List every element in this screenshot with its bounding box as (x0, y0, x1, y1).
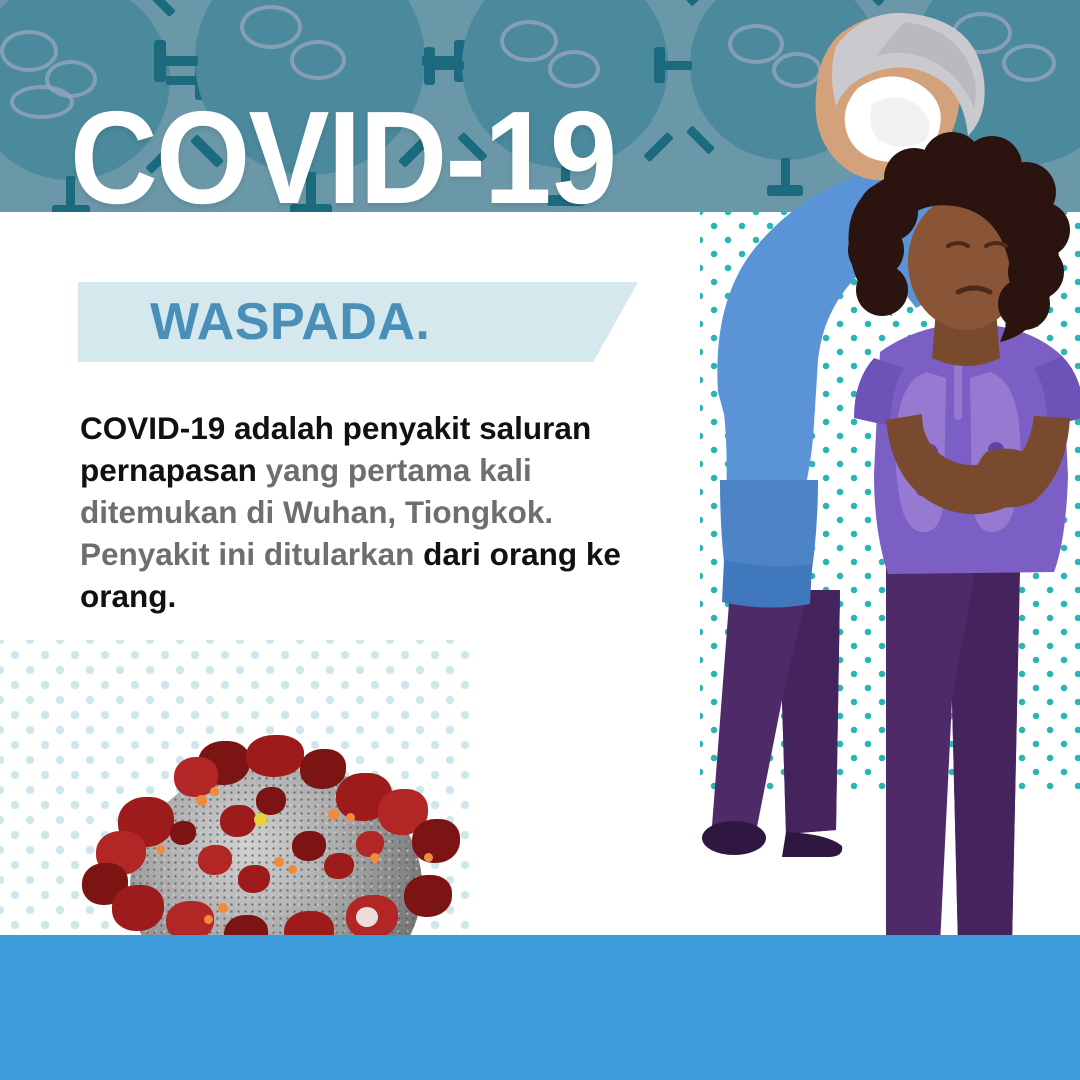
footer-bar: World Health Organization Indonesia WASP… (0, 935, 1080, 1080)
banner-label: WASPADA. (78, 282, 638, 362)
coronavirus-micrograph (78, 735, 468, 935)
body-paragraph: COVID-19 adalah penyakit saluran pernapa… (80, 408, 625, 617)
who-covid-poster: COVID-19 WASPADA. COVID-19 adalah penyak… (0, 0, 1080, 1080)
page-title: COVID-19 (70, 92, 615, 224)
people-svg (690, 0, 1080, 945)
people-illustration (690, 0, 1080, 945)
